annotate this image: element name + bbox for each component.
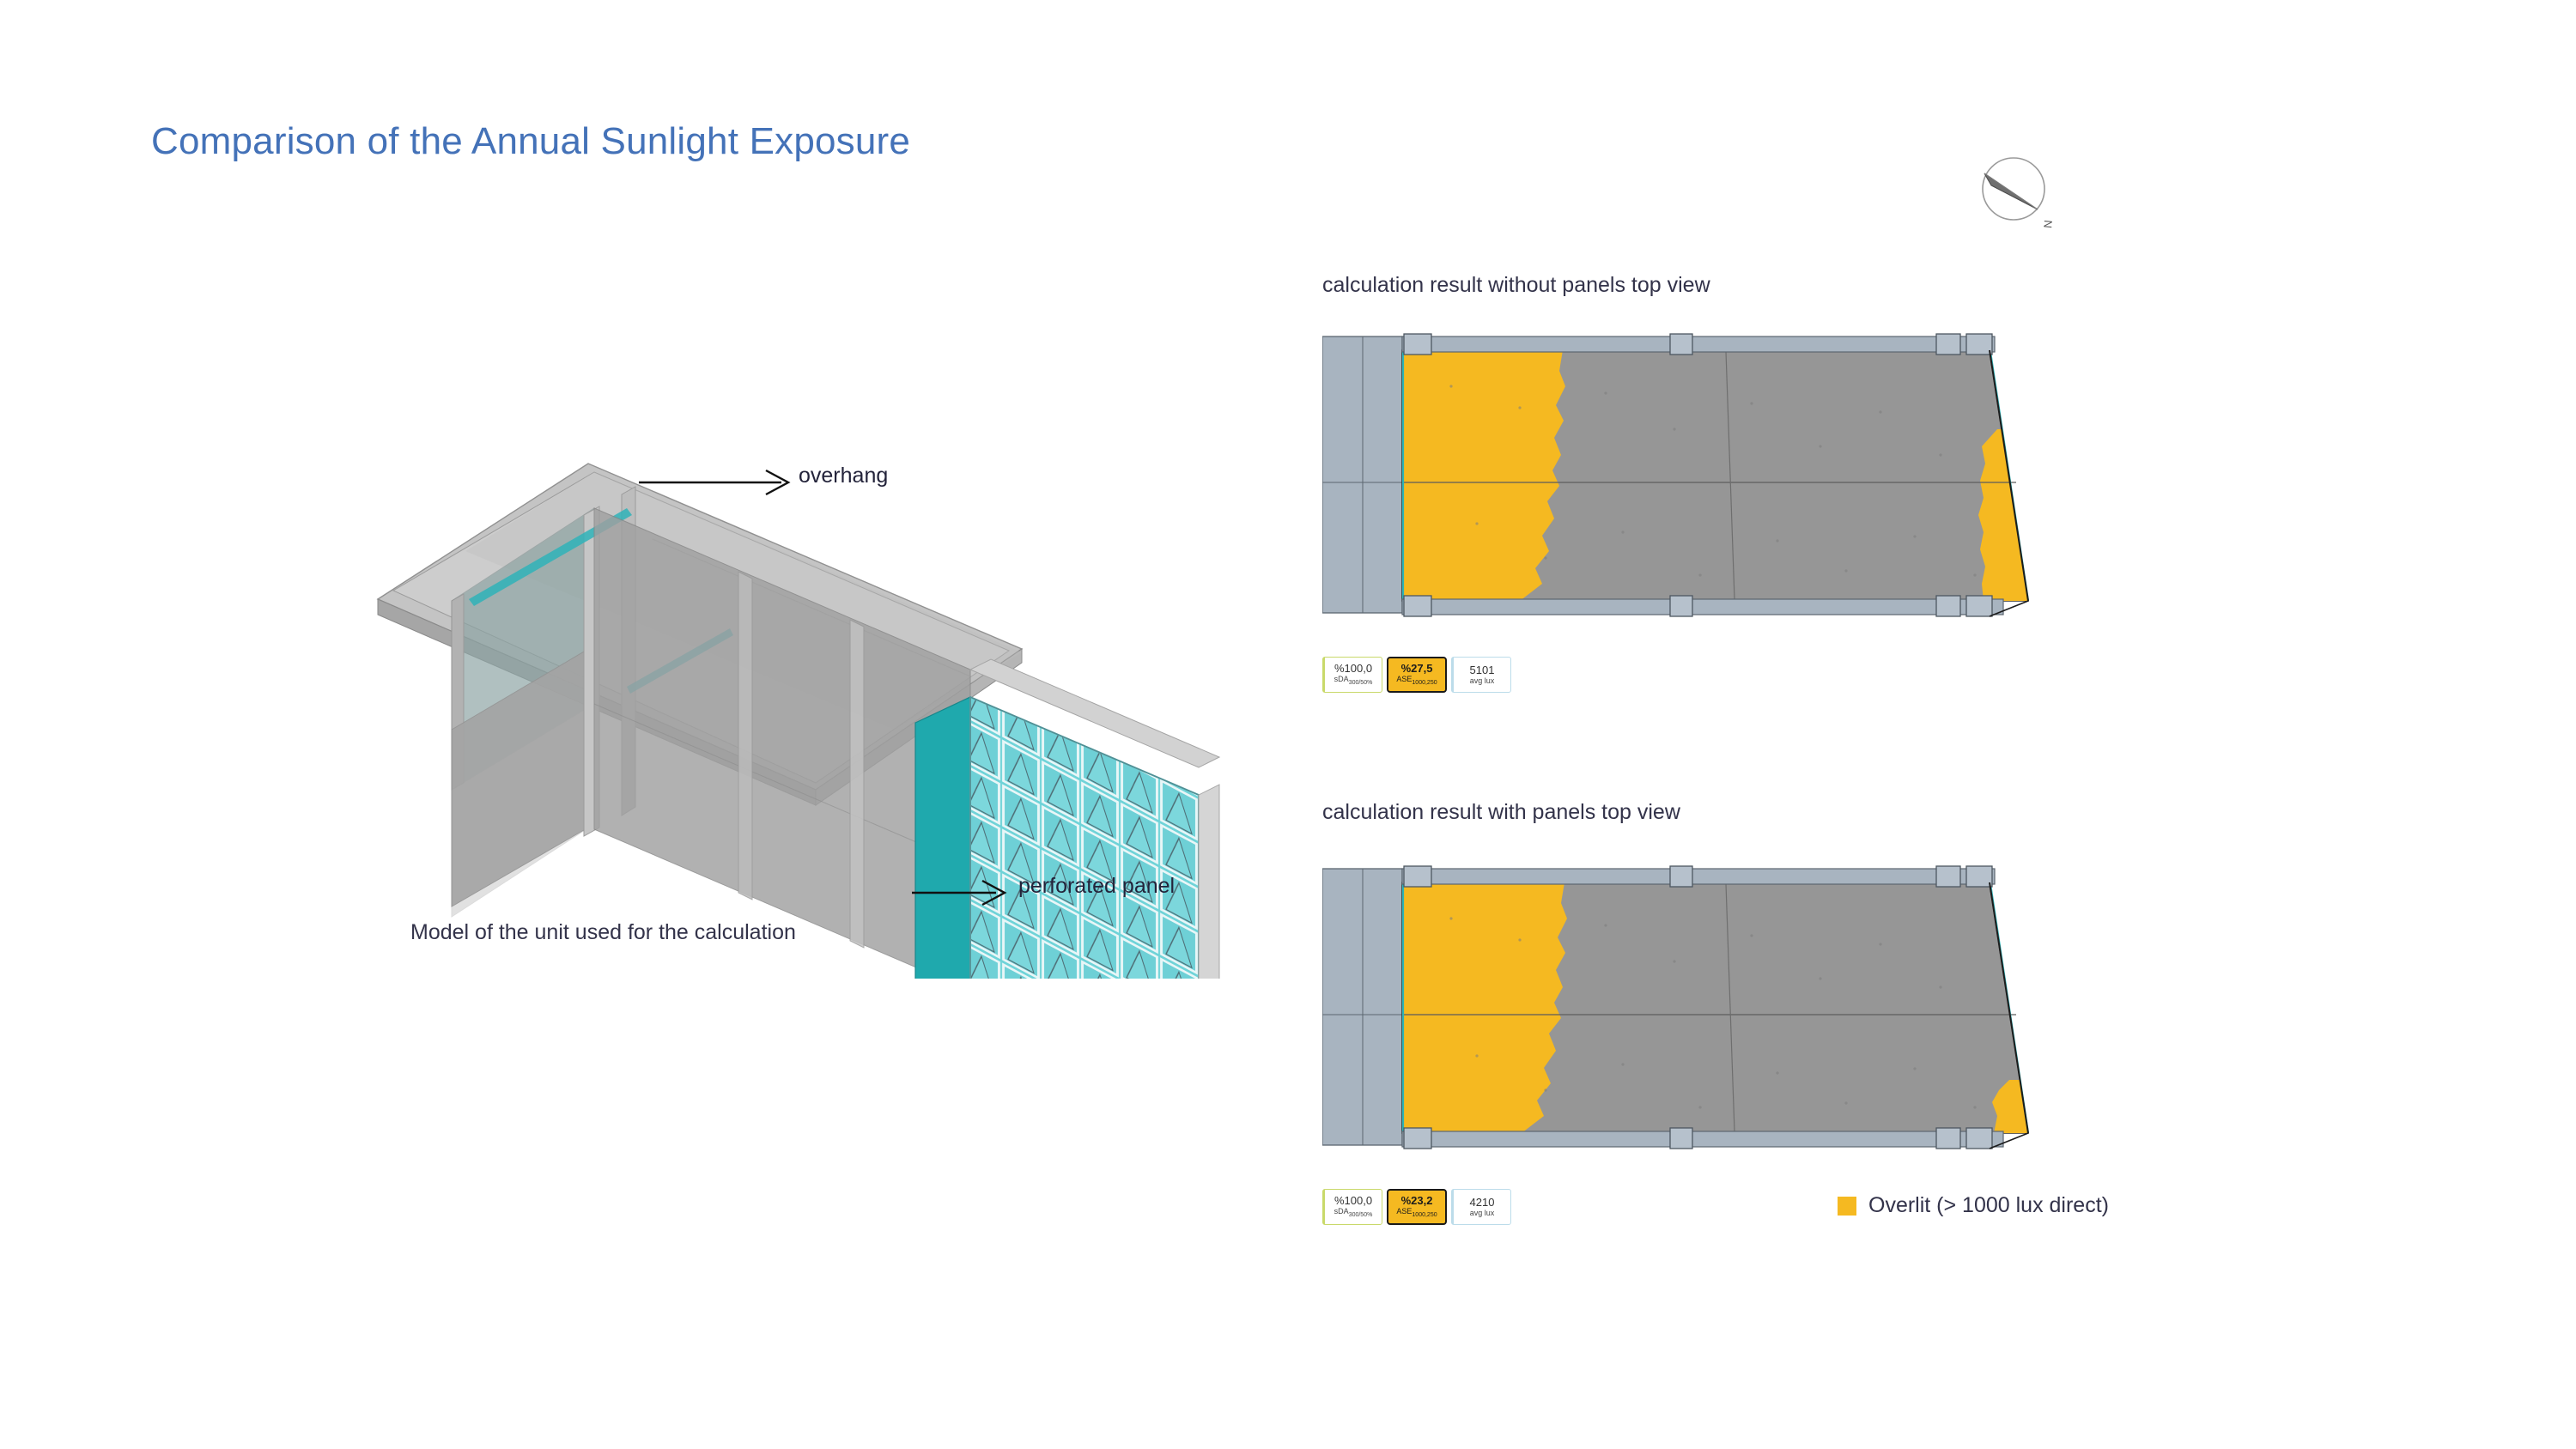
legend: Overlit (> 1000 lux direct)	[1838, 1193, 2109, 1218]
plan-with-panels	[1322, 858, 2095, 1185]
stat-unit-ase: ASE1000,250	[1396, 1207, 1437, 1220]
plan-caption-without-panels: calculation result without panels top vi…	[1322, 273, 1710, 298]
stat-value-sda: %100,0	[1334, 662, 1372, 675]
page-title: Comparison of the Annual Sunlight Exposu…	[151, 120, 910, 163]
stat-box-avg-lux: 5101 avg lux	[1451, 657, 1511, 693]
stat-unit-avg-lux: avg lux	[1470, 676, 1495, 686]
north-arrow-label: N	[2041, 220, 2055, 229]
stats-without-panels: %100,0 sDA300/50% %27,5 ASE1000,250 5101…	[1322, 657, 1511, 693]
leader-arrow-perforated-panel	[910, 874, 1039, 908]
model-3d-figure	[369, 446, 1271, 979]
stat-box-ase: %23,2 ASE1000,250	[1387, 1189, 1447, 1225]
stat-unit-avg-lux: avg lux	[1470, 1209, 1495, 1218]
legend-label-overlit: Overlit (> 1000 lux direct)	[1868, 1193, 2109, 1218]
stat-value-ase: %23,2	[1401, 1194, 1433, 1207]
stat-unit-ase: ASE1000,250	[1396, 675, 1437, 688]
stat-unit-sda: sDA300/50%	[1334, 675, 1373, 688]
plan-without-panels	[1322, 326, 2095, 652]
stat-unit-sda: sDA300/50%	[1334, 1207, 1373, 1220]
stat-box-avg-lux: 4210 avg lux	[1451, 1189, 1511, 1225]
stat-value-sda: %100,0	[1334, 1194, 1372, 1207]
plan-caption-with-panels: calculation result with panels top view	[1322, 800, 1680, 825]
model-caption: Model of the unit used for the calculati…	[410, 920, 796, 945]
north-arrow-icon: N	[1969, 148, 2063, 242]
stat-value-avg-lux: 4210	[1470, 1196, 1495, 1209]
stat-box-sda: %100,0 sDA300/50%	[1322, 1189, 1382, 1225]
leader-arrow-overhang	[635, 464, 824, 498]
stats-with-panels: %100,0 sDA300/50% %23,2 ASE1000,250 4210…	[1322, 1189, 1511, 1225]
stat-value-avg-lux: 5101	[1470, 664, 1495, 676]
overlit-region-right	[1978, 429, 2028, 601]
annotation-label-perforated-panel: perforated panel	[1018, 874, 1175, 899]
legend-swatch-overlit	[1838, 1197, 1856, 1216]
stat-value-ase: %27,5	[1401, 662, 1433, 675]
stat-box-sda: %100,0 sDA300/50%	[1322, 657, 1382, 693]
stat-box-ase: %27,5 ASE1000,250	[1387, 657, 1447, 693]
